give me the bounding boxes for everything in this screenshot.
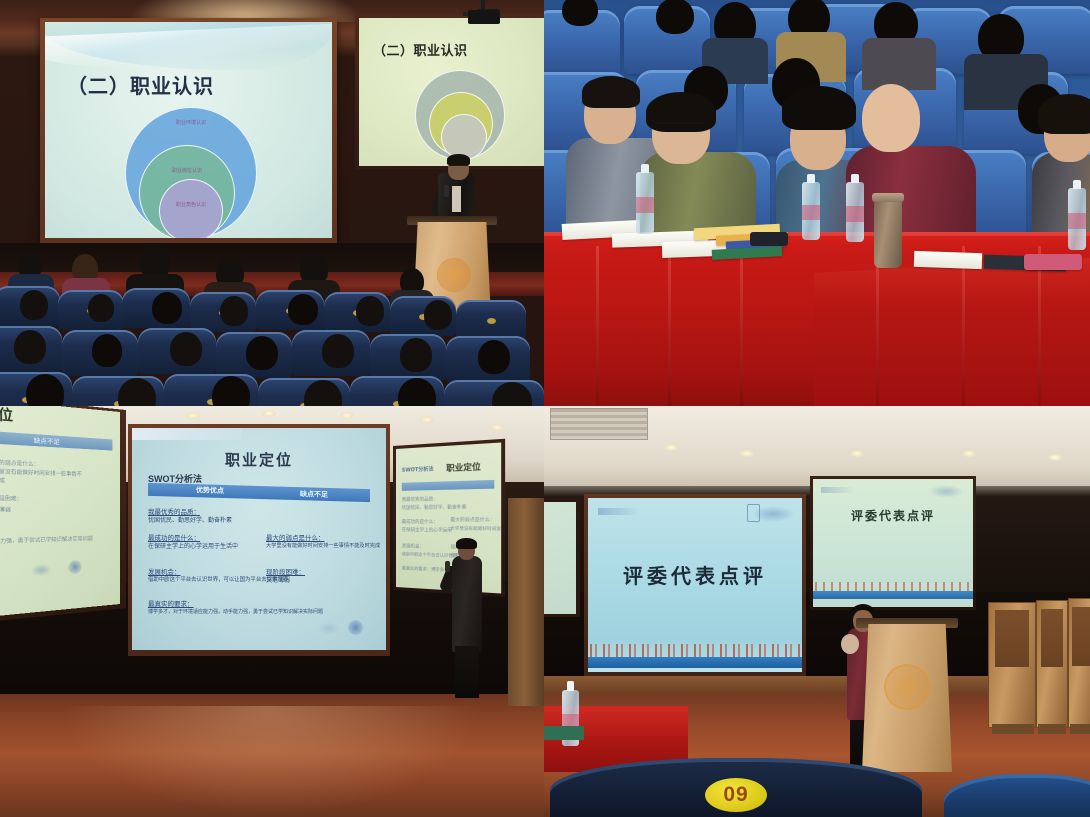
main-projection-screen: （二）职业认识 职业环境认识 职业岗位认识 职业角色认识	[45, 22, 332, 238]
circle-inner-label: 职业角色认识	[160, 202, 222, 208]
side-slide-header-mark	[821, 487, 855, 493]
side-projection-screen: （二）职业认识	[359, 18, 544, 166]
seat-number-badge: 09	[705, 778, 767, 812]
skyline-water-band	[588, 657, 802, 668]
panel-bottom-right: 评委代表点评 评委代表点评	[544, 406, 1090, 817]
presenter-legs	[455, 646, 479, 698]
side-skyline-water-band	[813, 591, 973, 599]
glasses-icon	[449, 165, 468, 170]
water-bottle	[1068, 188, 1086, 250]
circle-inner: 职业角色认识	[159, 179, 223, 238]
ceiling-vent	[550, 408, 648, 440]
side-slide-title-judge-comments: 评委代表点评	[813, 507, 973, 524]
wall-cabinet	[1068, 598, 1090, 728]
presenter-hair	[456, 538, 477, 549]
swot-row-2-left: 最成功的是什么： 在保研主学上的心学运用于生活中	[148, 532, 238, 551]
side-circle-inner	[441, 114, 487, 160]
cabinet-base	[1038, 724, 1066, 734]
side-slide-logo	[929, 485, 963, 498]
side-projection-screen: 评委代表点评	[813, 479, 973, 607]
wall-cabinet	[988, 602, 1036, 728]
wall-cabinet	[1036, 600, 1068, 728]
panel-bottom-left: 定位 缺点不足 最大的弱点是什么： 大学里没有能做好时间安排一些事情不 能完成 …	[0, 406, 544, 817]
podium-emblem	[437, 258, 471, 292]
ceiling-projector-icon	[468, 10, 500, 24]
foreground-seat-right	[944, 774, 1090, 817]
speaker-hair	[447, 154, 470, 165]
swot-r2-right-body: 大学里没有能做好时间安排一些事情不能及时完成	[266, 543, 380, 550]
swot-r1-left-heading: 我最优秀的品质：	[148, 506, 232, 516]
nested-circles-diagram: 职业环境认识 职业岗位认识 职业角色认识	[107, 107, 277, 238]
left-screen-table-header: 缺点不足	[0, 431, 112, 451]
slide-header-text-mark	[598, 508, 640, 515]
swot-row-4-left: 最真实的要求： 博学多才，对于环境适应能力强，动手能力强，勇于尝试已学知识解决实…	[148, 598, 323, 616]
speaker-shirt	[452, 186, 461, 212]
side-skyline-silhouette	[813, 582, 973, 591]
swot-r3-right-body: 文笔薄弱	[266, 577, 305, 585]
swot-r2-left-heading: 最成功的是什么：	[148, 532, 238, 542]
swot-row-2-right: 最大的弱点是什么： 大学里没有能做好时间安排一些事情不能及时完成	[266, 532, 380, 550]
slide-chrome-bar	[132, 428, 242, 440]
slide-logo-wordmark	[318, 622, 340, 635]
cabinet-base	[992, 724, 1034, 734]
swot-r1-left-body: 忧国忧民、勤思好学、勤奋朴素	[148, 517, 232, 525]
water-bottle	[636, 172, 654, 234]
swot-r2-left-body: 在保研主学上的心学运用于生活中	[148, 543, 238, 551]
skyline-silhouette	[588, 644, 802, 658]
speaker-hand	[841, 634, 859, 654]
judging-table-side	[814, 258, 1090, 406]
swot-r4-left-body: 博学多才，对于环境适应能力强，动手能力强，勇于尝试已学知识解决实际问题	[148, 609, 323, 616]
right-screen-subtitle: SWOT分析法	[402, 465, 434, 473]
slide-title-career-positioning: 职业定位	[132, 449, 386, 470]
podium-emblem	[884, 664, 930, 710]
swot-row-3-right: 现阶段困难： 文笔薄弱	[266, 566, 305, 585]
cabinet-base	[1070, 724, 1090, 734]
water-bottle	[802, 182, 820, 240]
swot-r2-right-heading: 最大的弱点是什么：	[266, 532, 380, 542]
judge-4-head	[862, 84, 920, 152]
slide-title-judge-comments: 评委代表点评	[588, 560, 802, 589]
swot-header-strengths: 优势优点	[196, 485, 224, 496]
left-screen-title: 定位	[0, 406, 13, 425]
notebook	[544, 726, 584, 740]
presenter-microphone-icon	[445, 561, 450, 572]
slide-logo-wordmark	[752, 506, 794, 522]
left-screen-header-text: 缺点不足	[34, 435, 60, 446]
swot-header-weaknesses: 缺点不足	[300, 489, 328, 500]
photo-collage: （二）职业认识 职业环境认识 职业岗位认识 职业角色认识 （二）职业认识	[0, 0, 1090, 817]
thermos-flask	[874, 200, 902, 268]
right-screen-table-header	[402, 480, 495, 491]
left-side-screen: 定位 缺点不足 最大的弱点是什么： 大学里没有能做好时间安排一些事情不 能完成 …	[0, 406, 120, 618]
panel-top-left: （二）职业认识 职业环境认识 职业岗位认识 职业角色认识 （二）职业认识	[0, 0, 544, 406]
microphone-icon	[444, 185, 449, 197]
swot-r4-left-heading: 最真实的要求：	[148, 598, 323, 608]
swot-projection-screen: 职业定位 SWOT分析法 优势优点 缺点不足 我最优秀的品质： 忧国忧民、勤思好…	[132, 428, 386, 650]
presenter-torso	[452, 556, 482, 652]
slide-title-vocational-awareness: （二）职业认识	[67, 70, 214, 99]
side-doorway	[508, 498, 544, 706]
swot-table-header: 优势优点 缺点不足	[148, 483, 370, 502]
floor-reflection	[60, 706, 480, 816]
main-projection-screen: 评委代表点评	[588, 498, 802, 672]
side-nested-circles	[407, 70, 511, 162]
panel-top-right	[544, 0, 1090, 406]
slide-logo-seal	[348, 620, 363, 635]
water-bottle	[846, 182, 864, 242]
right-screen-title: 职业定位	[446, 461, 481, 474]
swot-row-1-left: 我最优秀的品质： 忧国忧民、勤思好学、勤奋朴素	[148, 506, 232, 525]
side-slide-title: （二）职业认识	[373, 40, 468, 59]
swot-r3-right-heading: 现阶段困难：	[266, 566, 305, 576]
circle-outer-label: 职业环境认识	[126, 120, 256, 126]
far-left-screen	[544, 502, 576, 614]
circle-middle-label: 职业岗位认识	[140, 168, 234, 174]
